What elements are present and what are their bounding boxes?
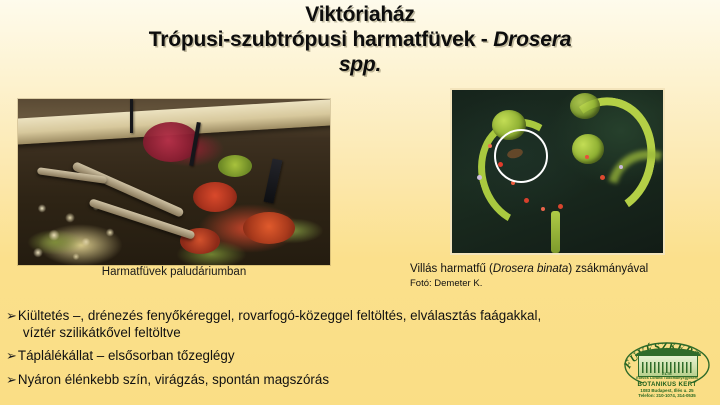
slide-root: Viktóriaház Trópusi-szubtrópusi harmatfü… [0, 0, 720, 405]
photo-credit: Fotó: Demeter K. [410, 277, 710, 291]
sundew-rosette [193, 182, 237, 212]
title-genus-italic: Drosera [493, 28, 571, 51]
bullet-text: Nyáron élénkebb szín, virágzás, spontán … [18, 372, 329, 389]
dew-droplet [558, 204, 563, 209]
arrow-bullet-icon: ➢ [6, 308, 17, 324]
right-caption-post: ) zsákmányával [568, 263, 648, 275]
plant-label-stake [130, 99, 133, 133]
title-line-2-text: Trópusi-szubtrópusi harmatfüvek - [149, 28, 493, 51]
title-species-italic: spp. [339, 53, 381, 76]
bullet-list: ➢ Kiültetés –, drénezés fenyőkéreggel, r… [6, 308, 646, 395]
bullet-line-2: víztér szilikátkővel feltöltve [18, 325, 541, 342]
list-item: ➢ Kiültetés –, drénezés fenyőkéreggel, r… [6, 308, 646, 341]
logo-phone: Telefon: 210-1074, 314-0535 [618, 393, 716, 398]
right-caption-species: Drosera binata [493, 263, 568, 275]
prey-highlight-circle [494, 129, 548, 183]
dew-droplet [600, 175, 605, 180]
botanical-garden-logo: FÜVÉSZKERT ELTE Eötvös Loránd Tudományeg… [618, 341, 716, 403]
arrow-bullet-icon: ➢ [6, 348, 17, 364]
paludarium-photo [18, 99, 330, 265]
drosera-binata-photo [450, 88, 665, 255]
bullet-text: Táplálékállat – elsősorban tőzeglégy [18, 348, 235, 365]
list-item: ➢ Nyáron élénkebb szín, virágzás, spontá… [6, 372, 646, 389]
list-item: ➢ Táplálékállat – elsősorban tőzeglégy [6, 348, 646, 365]
title-line-1: Viktóriaház [305, 3, 414, 26]
logo-institution-line-2: BOTANIKUS KERT [618, 381, 716, 388]
dew-droplet [524, 198, 529, 203]
dew-droplet [619, 165, 623, 169]
right-caption-pre: Villás harmatfű ( [410, 263, 493, 275]
right-photo-caption: Villás harmatfű (Drosera binata) zsákmán… [410, 262, 710, 291]
arrow-bullet-icon: ➢ [6, 372, 17, 388]
bullet-text: Kiültetés –, drénezés fenyőkéreggel, rov… [18, 308, 541, 341]
left-photo-caption: Harmatfüvek paludáriumban [18, 266, 330, 278]
logo-text-block: ELTE Eötvös Loránd Tudományegyetem BOTAN… [618, 371, 716, 399]
sundew-rosette [243, 212, 295, 244]
dew-droplet [488, 144, 492, 148]
bullet-line-1: Kiültetés –, drénezés fenyőkéreggel, rov… [18, 308, 541, 323]
page-title: Viktóriaház Trópusi-szubtrópusi harmatfü… [60, 2, 660, 77]
